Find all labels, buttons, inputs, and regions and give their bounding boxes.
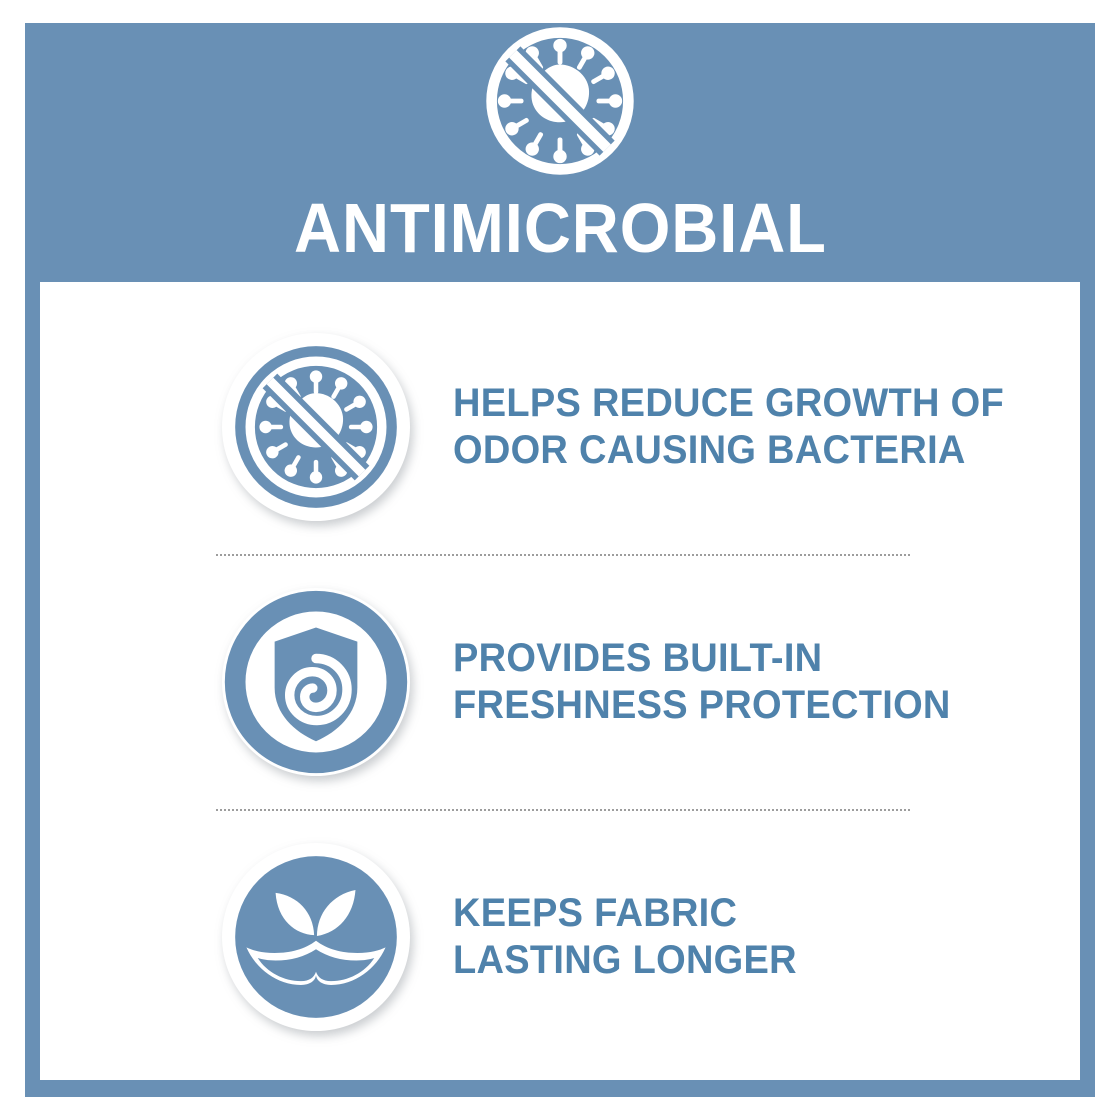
- no-virus-icon: [484, 25, 636, 177]
- shield-freshness-badge-icon: [222, 588, 410, 776]
- divider: [216, 554, 910, 556]
- list-item: KEEPS FABRIC LASTING LONGER: [40, 820, 1080, 1054]
- leaf-fabric-badge-icon: [222, 843, 410, 1031]
- antimicrobial-infographic: ANTIMICROBIAL: [0, 0, 1120, 1120]
- feature-list: HELPS REDUCE GROWTH OF ODOR CAUSING BACT…: [40, 282, 1080, 1080]
- page-title: ANTIMICROBIAL: [294, 193, 827, 263]
- list-item-label: KEEPS FABRIC LASTING LONGER: [453, 890, 797, 984]
- list-item: HELPS REDUCE GROWTH OF ODOR CAUSING BACT…: [40, 310, 1080, 544]
- no-virus-badge-icon: [222, 333, 410, 521]
- list-item: PROVIDES BUILT-IN FRESHNESS PROTECTION: [40, 565, 1080, 799]
- header: ANTIMICROBIAL: [25, 23, 1095, 282]
- divider: [216, 809, 910, 811]
- list-item-label: PROVIDES BUILT-IN FRESHNESS PROTECTION: [453, 635, 951, 729]
- list-item-label: HELPS REDUCE GROWTH OF ODOR CAUSING BACT…: [453, 380, 1004, 474]
